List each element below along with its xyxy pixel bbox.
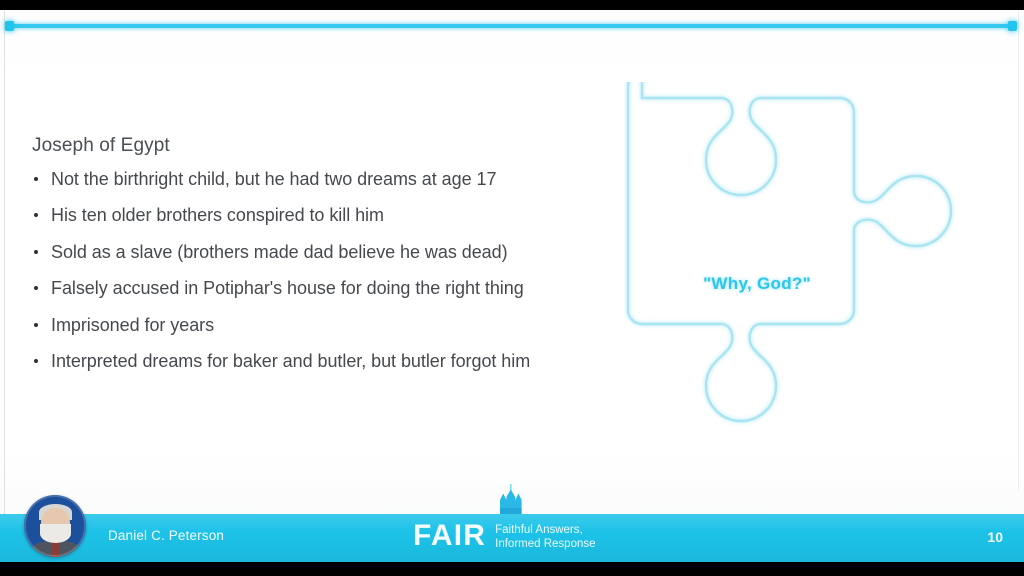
brand-tagline-line2: Informed Response [495, 537, 595, 551]
list-item: Falsely accused in Potiphar's house for … [30, 279, 630, 297]
slide-body: Joseph of Egypt Not the birthright child… [30, 135, 630, 389]
bullet-dot-icon [34, 177, 38, 181]
brand-tagline-line1: Faithful Answers, [495, 523, 595, 537]
top-divider [0, 21, 1024, 31]
list-item-text: Sold as a slave (brothers made dad belie… [51, 242, 508, 262]
resize-handle-right-icon[interactable] [1008, 21, 1017, 31]
page-number: 10 [987, 529, 1003, 545]
footer-bar: Daniel C. Peterson FAIR Faithful Answers… [0, 514, 1024, 562]
brand-tagline: Faithful Answers, Informed Response [495, 521, 595, 551]
presentation-slide: Joseph of Egypt Not the birthright child… [0, 10, 1024, 562]
brand-name: FAIR [413, 521, 486, 551]
brand-lockup: FAIR Faithful Answers, Informed Response [413, 521, 596, 551]
list-item: His ten older brothers conspired to kill… [30, 206, 630, 224]
temple-crown-icon [496, 484, 526, 518]
bullet-dot-icon [34, 359, 38, 363]
list-item-text: Interpreted dreams for baker and butler,… [51, 351, 530, 371]
slide-left-border [4, 10, 5, 562]
slide-heading: Joseph of Egypt [32, 135, 630, 158]
list-item: Interpreted dreams for baker and butler,… [30, 352, 630, 370]
list-item: Sold as a slave (brothers made dad belie… [30, 243, 630, 261]
list-item-text: Not the birthright child, but he had two… [51, 169, 496, 189]
list-item-text: Falsely accused in Potiphar's house for … [51, 278, 524, 298]
list-item: Not the birthright child, but he had two… [30, 170, 630, 188]
slide-right-border [1018, 10, 1019, 490]
bullet-list: Not the birthright child, but he had two… [30, 170, 630, 371]
video-frame: Joseph of Egypt Not the birthright child… [0, 0, 1024, 576]
list-item: Imprisoned for years [30, 316, 630, 334]
list-item-text: Imprisoned for years [51, 315, 214, 335]
bullet-dot-icon [34, 213, 38, 217]
top-divider-line [10, 24, 1012, 28]
avatar-ring [24, 495, 86, 557]
speaker-name: Daniel C. Peterson [108, 528, 224, 543]
bullet-dot-icon [34, 250, 38, 254]
puzzle-piece-label: "Why, God?" [612, 274, 902, 294]
bullet-dot-icon [34, 286, 38, 290]
bullet-dot-icon [34, 323, 38, 327]
resize-handle-left-icon[interactable] [5, 21, 14, 31]
puzzle-piece-graphic: "Why, God?" [612, 82, 1016, 482]
avatar [24, 495, 86, 557]
list-item-text: His ten older brothers conspired to kill… [51, 205, 384, 225]
